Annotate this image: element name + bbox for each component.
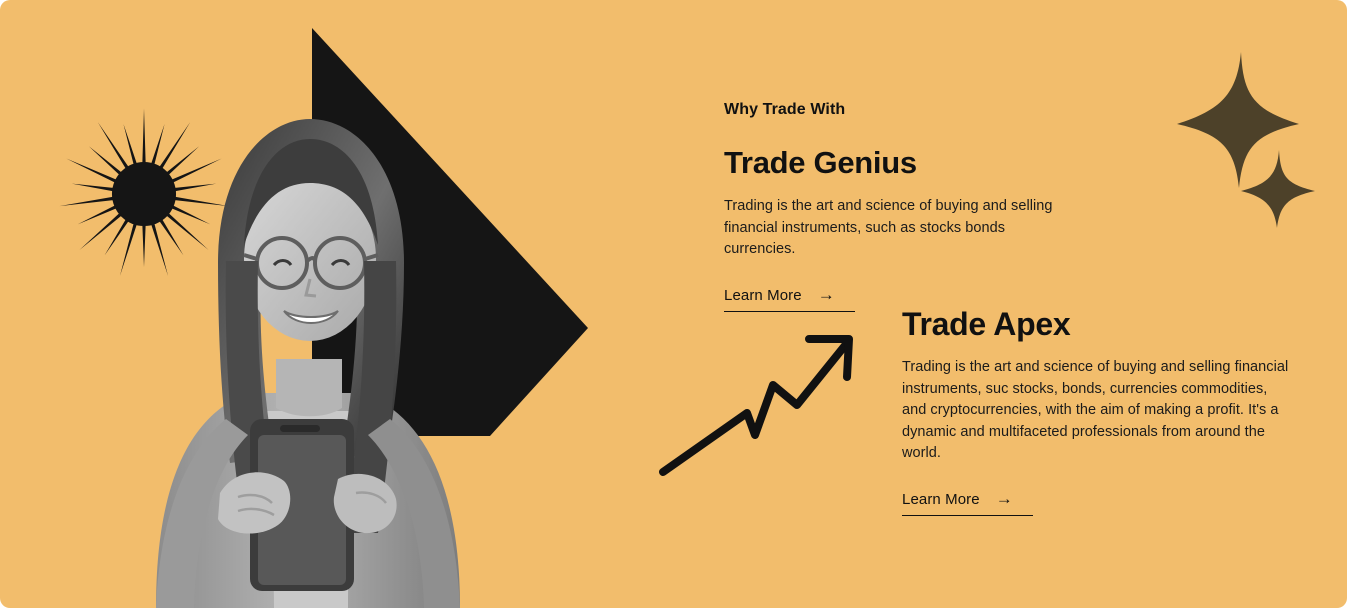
arrow-right-icon: → — [818, 286, 835, 303]
content-area: Why Trade With Trade Genius Trading is t… — [660, 0, 1347, 608]
feature-block-trade-apex: Trade Apex Trading is the art and scienc… — [902, 305, 1292, 516]
woman-with-smartphone-photo — [98, 63, 518, 608]
learn-more-link-trade-apex[interactable]: Learn More → — [902, 491, 1033, 516]
learn-more-label: Learn More — [902, 491, 980, 508]
eyebrow-label: Why Trade With — [724, 100, 1064, 120]
feature-body: Trading is the art and science of buying… — [902, 357, 1292, 465]
feature-title: Trade Apex — [902, 305, 1292, 343]
learn-more-label: Learn More — [724, 287, 802, 304]
learn-more-link-trade-genius[interactable]: Learn More → — [724, 287, 855, 312]
feature-title: Trade Genius — [724, 144, 1064, 182]
arrow-right-icon: → — [996, 490, 1013, 507]
feature-block-trade-genius: Why Trade With Trade Genius Trading is t… — [724, 100, 1064, 312]
feature-body: Trading is the art and science of buying… — [724, 196, 1064, 261]
hero-card: Why Trade With Trade Genius Trading is t… — [0, 0, 1347, 608]
